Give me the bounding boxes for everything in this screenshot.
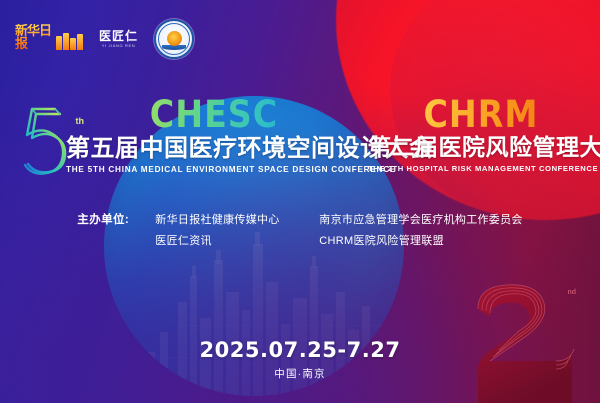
- chrm-english-title: THE 2TH HOSPITAL RISK MANAGEMENT CONFERE…: [368, 164, 594, 173]
- chesc-english-title: THE 5TH CHINA MEDICAL ENVIRONMENT SPACE …: [66, 165, 358, 174]
- chesc-acronym: CHESC: [70, 96, 358, 133]
- chrm-conference-block: CHRM 第二届医院风险管理大会 THE 2TH HOSPITAL RISK M…: [368, 96, 594, 173]
- organizer-item: 南京市应急管理学会医疗机构工作委员会: [319, 210, 522, 231]
- chrm-chinese-title: 第二届医院风险管理大会: [368, 136, 594, 160]
- organizer-item: CHRM医院风险管理联盟: [319, 231, 522, 252]
- chrm-acronym: CHRM: [368, 96, 594, 133]
- emblem-center-icon: [167, 31, 182, 46]
- edition-suffix-nd: nd: [567, 289, 576, 296]
- organizers-column-1: 新华日报社健康传媒中心 医匠仁资讯: [155, 210, 295, 252]
- organizer-item: 新华日报社健康传媒中心: [155, 210, 295, 231]
- chesc-conference-block: CHESC 第五届中国医疗环境空间设计大会 THE 5TH CHINA MEDI…: [66, 96, 358, 174]
- organizers-label: 主办单位:: [77, 210, 155, 231]
- organizer-item: 医匠仁资讯: [155, 231, 295, 252]
- conference-title-row: th CHESC 第五届中国医疗环境空间设计大会 THE 5TH CHINA M…: [0, 96, 600, 186]
- conference-poster: 新华日报 医匠仁 YI JIANG REN: [0, 0, 600, 403]
- organizers-section: 主办单位: 新华日报社健康传媒中心 医匠仁资讯 南京市应急管理学会医疗机构工作委…: [0, 210, 600, 252]
- chesc-chinese-title: 第五届中国医疗环境空间设计大会: [66, 136, 358, 161]
- edition-number-2-graphic: nd: [460, 273, 600, 403]
- organizers-column-2: 南京市应急管理学会医疗机构工作委员会 CHRM医院风险管理联盟: [319, 210, 522, 252]
